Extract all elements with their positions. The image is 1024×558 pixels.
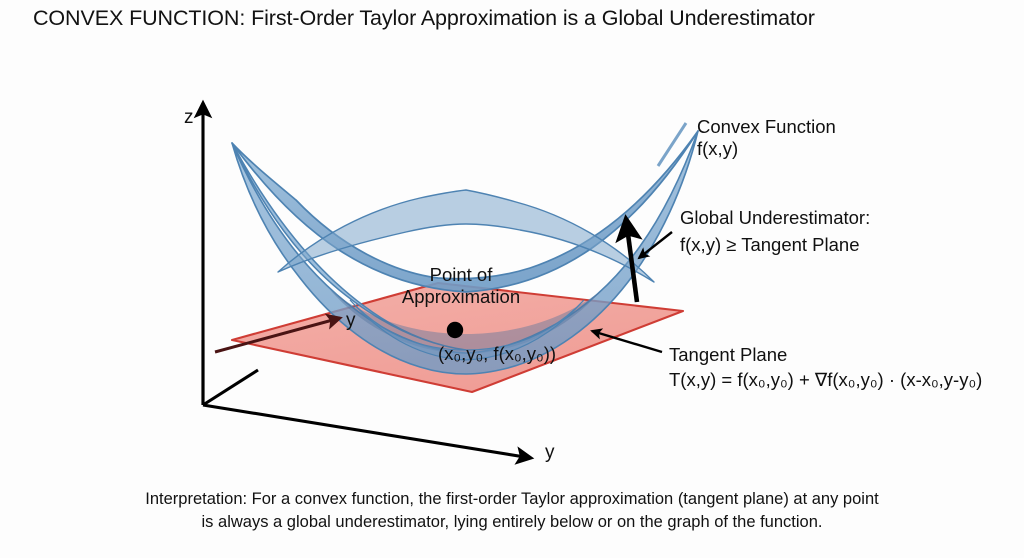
depth-axis-label: y — [346, 309, 356, 332]
point-of-approximation-marker — [447, 322, 463, 338]
diagram-canvas: CONVEX FUNCTION: First-Order Taylor Appr… — [0, 0, 1024, 558]
tangent-plane-label-line2: T(x,y) = f(x₀,y₀) + ∇f(x₀,y₀) · (x-x₀,y-… — [669, 369, 982, 392]
interpretation-caption: Interpretation: For a convex function, t… — [0, 488, 1024, 535]
global-underestimator-label-line1: Global Underestimator: — [680, 207, 870, 230]
convex-function-label-line1: Convex Function — [697, 116, 836, 139]
caption-line-2: is always a global underestimator, lying… — [0, 511, 1024, 534]
point-of-approximation-line1: Point of — [379, 264, 543, 287]
horizontal-axis-line — [203, 405, 531, 458]
point-coordinates-text: (x₀,y₀, f(x₀,y₀)) — [438, 343, 556, 364]
caption-line-1: Interpretation: For a convex function, t… — [145, 490, 878, 508]
point-of-approximation-line2: Approximation — [369, 286, 553, 309]
point-coordinates-label: (x₀,y₀, f(x₀,y₀)) — [438, 343, 556, 366]
convex-function-leader — [658, 123, 686, 166]
convex-function-label-line2: f(x,y) — [697, 138, 738, 161]
base-diagonal-line — [203, 370, 258, 405]
global-underestimator-label-line2: f(x,y) ≥ Tangent Plane — [680, 234, 860, 257]
z-axis-label: z — [184, 106, 194, 129]
tangent-plane-label-line1: Tangent Plane — [669, 344, 787, 367]
horizontal-axis-label: y — [545, 441, 555, 464]
